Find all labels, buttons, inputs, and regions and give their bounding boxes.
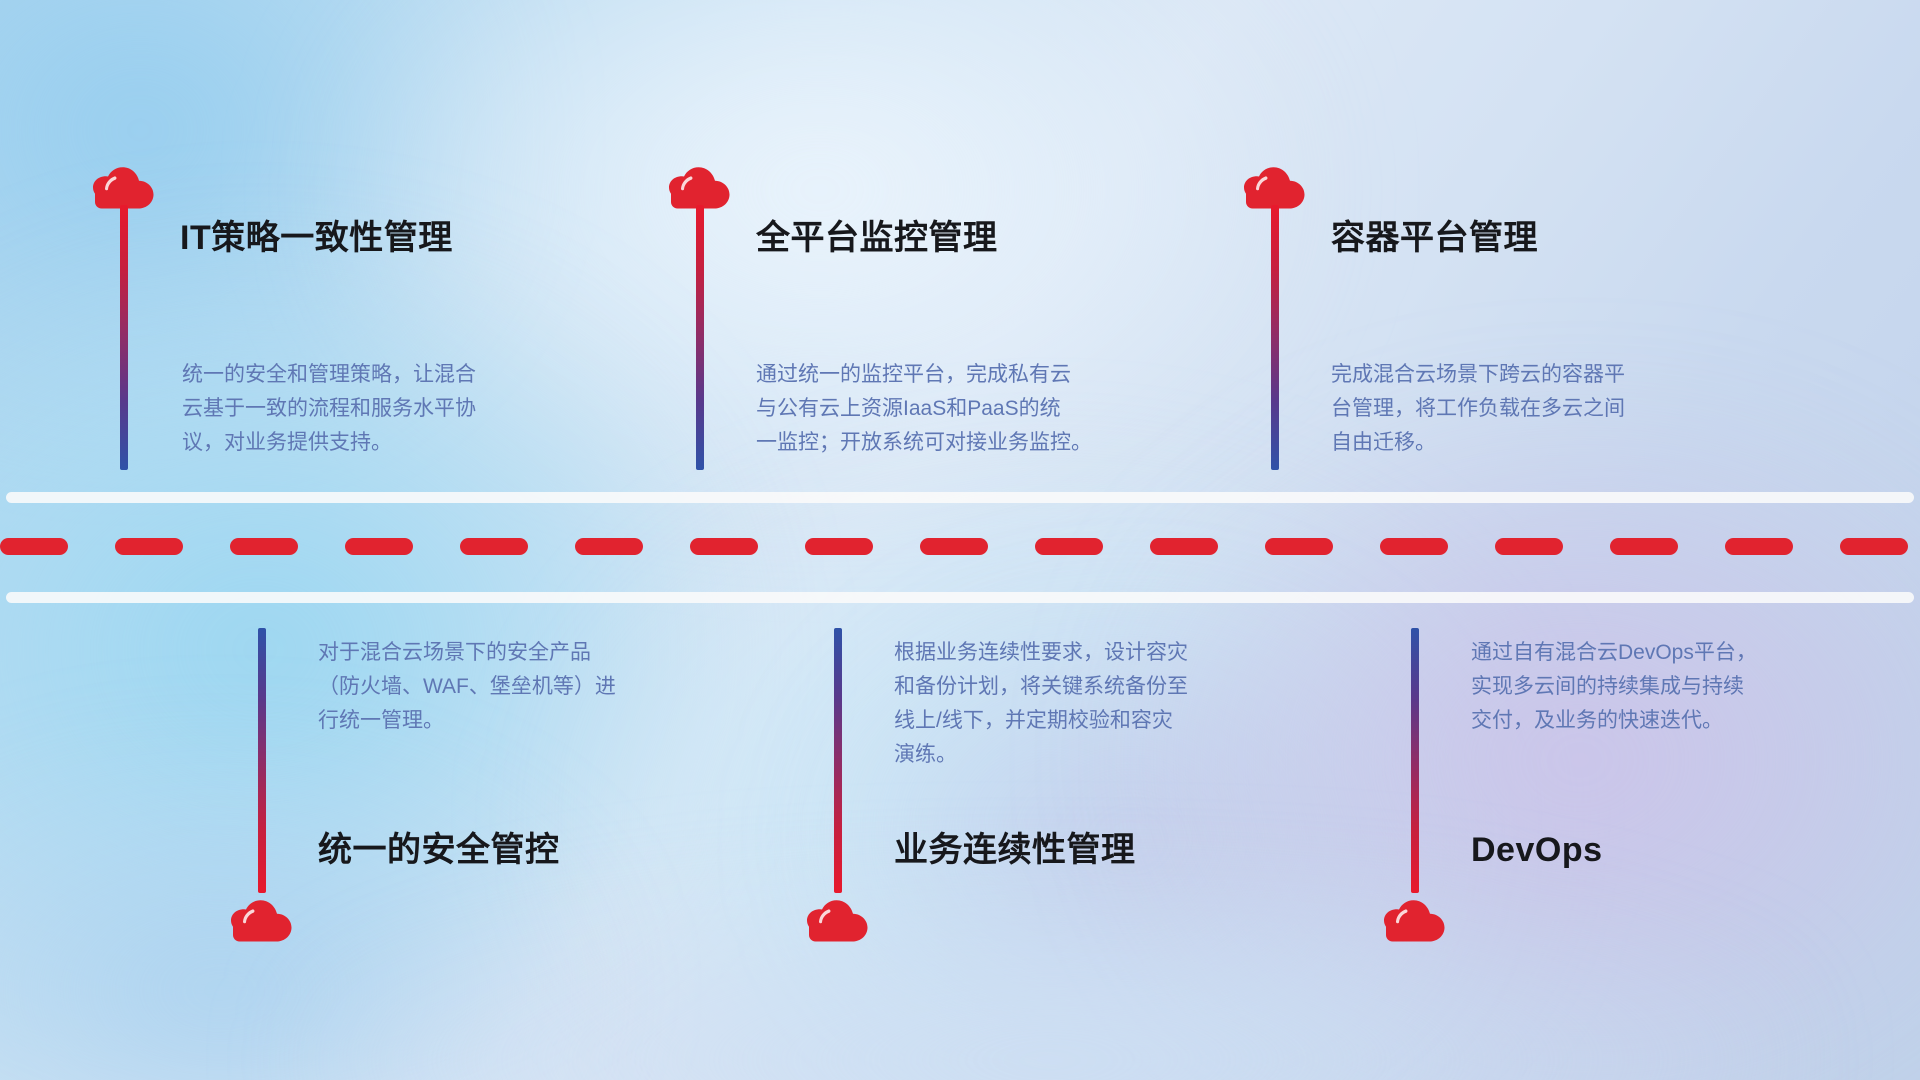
card-body: 统一的安全和管理策略，让混合 云基于一致的流程和服务水平协 议，对业务提供支持。 xyxy=(182,358,612,460)
card-body-line: 统一的安全和管理策略，让混合 xyxy=(182,358,612,392)
connector-stem xyxy=(1271,205,1279,470)
road-dash xyxy=(690,538,758,555)
card-body-line: 和备份计划，将关键系统备份至 xyxy=(894,670,1324,704)
card-body-line: 演练。 xyxy=(894,738,1324,772)
road-dash xyxy=(460,538,528,555)
cloud-icon xyxy=(92,160,156,210)
card-title: 业务连续性管理 xyxy=(894,830,1136,871)
infographic-content: IT策略一致性管理 统一的安全和管理策略，让混合 云基于一致的流程和服务水平协 … xyxy=(0,0,1920,1080)
card-body: 通过自有混合云DevOps平台， 实现多云间的持续集成与持续 交付，及业务的快速… xyxy=(1471,636,1901,738)
card-title: IT策略一致性管理 xyxy=(180,218,453,259)
card-body-line: 与公有云上资源IaaS和PaaS的统 xyxy=(756,392,1186,426)
card-body-line: 实现多云间的持续集成与持续 xyxy=(1471,670,1901,704)
card-title: 统一的安全管控 xyxy=(318,830,560,871)
card-body-line: 根据业务连续性要求，设计容灾 xyxy=(894,636,1324,670)
road-dash xyxy=(115,538,183,555)
card-body-line: 通过统一的监控平台，完成私有云 xyxy=(756,358,1186,392)
cloud-icon xyxy=(668,160,732,210)
card-body: 通过统一的监控平台，完成私有云 与公有云上资源IaaS和PaaS的统 一监控；开… xyxy=(756,358,1186,460)
road-edge-line-bottom xyxy=(6,592,1914,603)
card-body-line: 对于混合云场景下的安全产品 xyxy=(318,636,748,670)
road-dash xyxy=(1380,538,1448,555)
road-dash xyxy=(0,538,68,555)
road-dash xyxy=(1265,538,1333,555)
road-edge-line-top xyxy=(6,492,1914,503)
road-dash xyxy=(1035,538,1103,555)
road-dash xyxy=(1610,538,1678,555)
road-dash xyxy=(575,538,643,555)
card-body-line: 行统一管理。 xyxy=(318,704,748,738)
card-title: 全平台监控管理 xyxy=(756,218,998,259)
card-body-line: 自由迁移。 xyxy=(1331,426,1761,460)
road-dash xyxy=(1725,538,1793,555)
road-dash xyxy=(230,538,298,555)
road-dash xyxy=(1495,538,1563,555)
connector-stem xyxy=(258,628,266,893)
card-title: 容器平台管理 xyxy=(1331,218,1538,259)
cloud-icon xyxy=(1383,893,1447,943)
card-body-line: 议，对业务提供支持。 xyxy=(182,426,612,460)
card-body-line: 完成混合云场景下跨云的容器平 xyxy=(1331,358,1761,392)
card-body-line: 台管理，将工作负载在多云之间 xyxy=(1331,392,1761,426)
card-body-line: 云基于一致的流程和服务水平协 xyxy=(182,392,612,426)
cloud-icon xyxy=(1243,160,1307,210)
cloud-icon xyxy=(230,893,294,943)
card-body: 完成混合云场景下跨云的容器平 台管理，将工作负载在多云之间 自由迁移。 xyxy=(1331,358,1761,460)
road-dash xyxy=(1840,538,1908,555)
road-dash xyxy=(920,538,988,555)
card-body-line: 线上/线下，并定期校验和容灾 xyxy=(894,704,1324,738)
card-body-line: （防火墙、WAF、堡垒机等）进 xyxy=(318,670,748,704)
connector-stem xyxy=(120,205,128,470)
road-dash xyxy=(345,538,413,555)
road-dash xyxy=(805,538,873,555)
connector-stem xyxy=(1411,628,1419,893)
road-center-dashed-line xyxy=(0,538,1920,555)
card-body-line: 通过自有混合云DevOps平台， xyxy=(1471,636,1901,670)
road-dash xyxy=(1150,538,1218,555)
card-title: DevOps xyxy=(1471,830,1603,871)
cloud-icon xyxy=(806,893,870,943)
card-body-line: 一监控；开放系统可对接业务监控。 xyxy=(756,426,1186,460)
card-body: 根据业务连续性要求，设计容灾 和备份计划，将关键系统备份至 线上/线下，并定期校… xyxy=(894,636,1324,772)
connector-stem xyxy=(696,205,704,470)
card-body-line: 交付，及业务的快速迭代。 xyxy=(1471,704,1901,738)
connector-stem xyxy=(834,628,842,893)
card-body: 对于混合云场景下的安全产品 （防火墙、WAF、堡垒机等）进 行统一管理。 xyxy=(318,636,748,738)
